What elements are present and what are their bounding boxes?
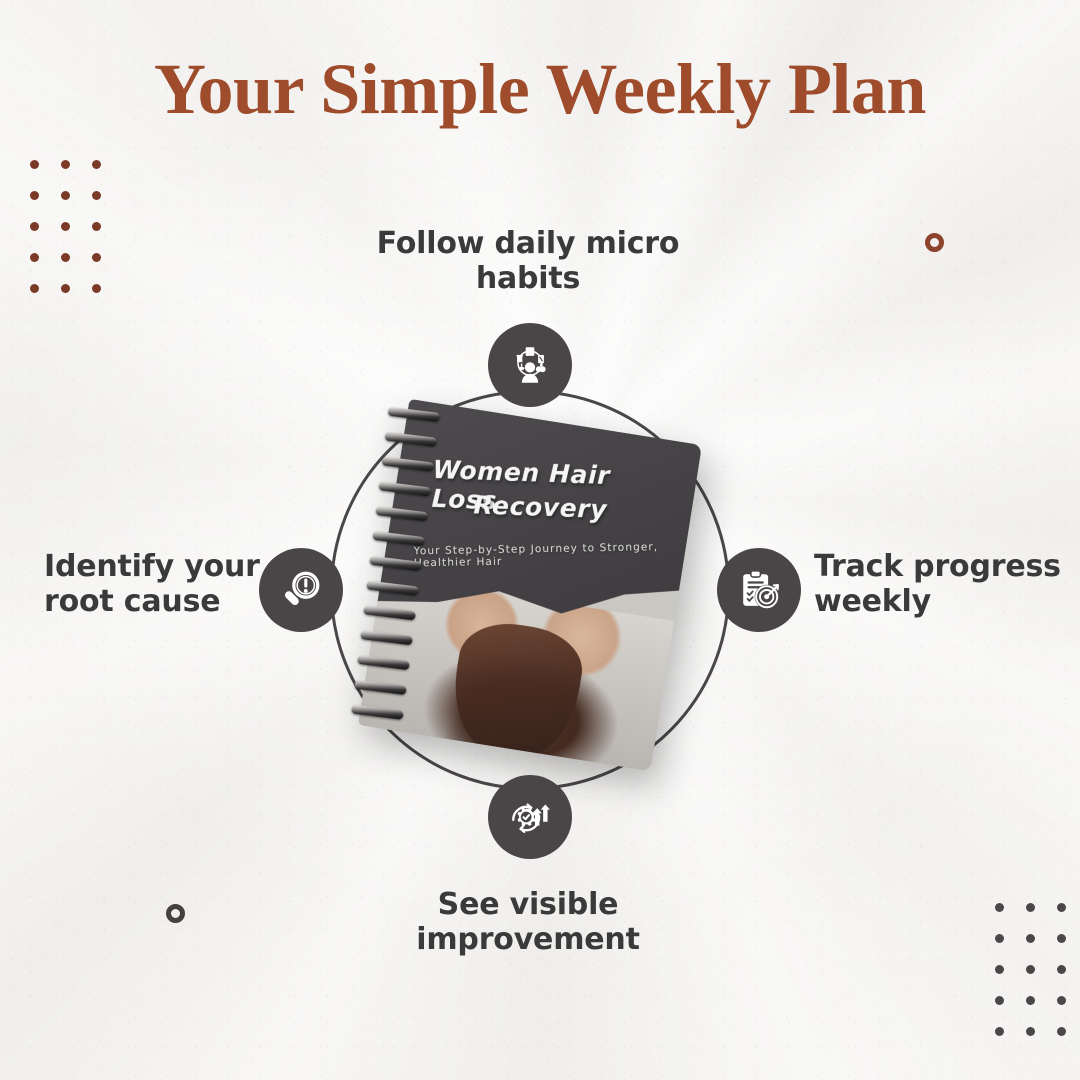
ring-accent-bottom-left — [166, 904, 185, 923]
ebook-mockup: Women Hair Loss Recovery Your Step-by-St… — [358, 399, 702, 771]
gear-growth-arrows-icon — [507, 794, 553, 840]
book-subtitle: Your Step-by-Step Journey to Stronger, H… — [414, 541, 682, 570]
magnifier-alert-icon — [278, 567, 324, 613]
dot — [995, 934, 1004, 943]
spiral-coil — [385, 432, 438, 447]
dot — [30, 160, 39, 169]
dot — [995, 996, 1004, 1005]
dot — [92, 160, 101, 169]
dot — [1057, 934, 1066, 943]
dot — [30, 222, 39, 231]
spiral-coil — [363, 605, 416, 620]
ring-accent-top-right — [925, 233, 944, 252]
dot — [30, 253, 39, 262]
cycle-label-bottom: See visible improvement — [330, 887, 726, 958]
cycle-label-right: Track progress weekly — [814, 549, 1064, 620]
dot — [1026, 934, 1035, 943]
dot — [30, 191, 39, 200]
book-title-line-2: Recovery — [473, 490, 674, 526]
dot — [1057, 965, 1066, 974]
spiral-coil — [375, 506, 428, 521]
spiral-coil — [378, 481, 431, 496]
dot — [30, 284, 39, 293]
spiral-coil — [351, 705, 404, 720]
dot — [995, 965, 1004, 974]
dot — [1026, 965, 1035, 974]
dot — [1057, 903, 1066, 912]
spiral-coil — [372, 531, 425, 546]
habits-person-network-icon — [507, 342, 553, 388]
spiral-coil — [369, 556, 422, 571]
dot-grid-bottom-right — [995, 903, 1066, 1036]
dot — [61, 222, 70, 231]
dot — [61, 253, 70, 262]
infographic-canvas: Your Simple Weekly Plan Women Hair Loss … — [0, 0, 1080, 1080]
dot — [92, 222, 101, 231]
spiral-coil — [366, 580, 419, 595]
dot — [1057, 1027, 1066, 1036]
cycle-node-follow-daily-micro-habits[interactable] — [488, 323, 572, 407]
cycle-label-top: Follow daily micro habits — [330, 226, 726, 297]
spiral-coil — [382, 456, 435, 471]
dot — [995, 903, 1004, 912]
dot — [61, 191, 70, 200]
cycle-node-track-progress-weekly[interactable] — [717, 548, 801, 632]
spiral-coil — [357, 655, 410, 670]
spiral-coil — [354, 680, 407, 695]
page-title: Your Simple Weekly Plan — [0, 50, 1080, 129]
dot — [1026, 903, 1035, 912]
dot — [61, 160, 70, 169]
dot-grid-top-left — [30, 160, 101, 293]
spiral-coil — [360, 630, 413, 645]
cycle-label-left: Identify your root cause — [44, 549, 264, 620]
dot — [995, 1027, 1004, 1036]
dot — [92, 253, 101, 262]
dot — [1057, 996, 1066, 1005]
dot — [61, 284, 70, 293]
cycle-node-identify-root-cause[interactable] — [259, 548, 343, 632]
dot — [1026, 996, 1035, 1005]
dot — [92, 191, 101, 200]
clipboard-target-icon — [736, 567, 782, 613]
dot — [92, 284, 101, 293]
cycle-node-see-visible-improvement[interactable] — [488, 775, 572, 859]
dot — [1026, 1027, 1035, 1036]
